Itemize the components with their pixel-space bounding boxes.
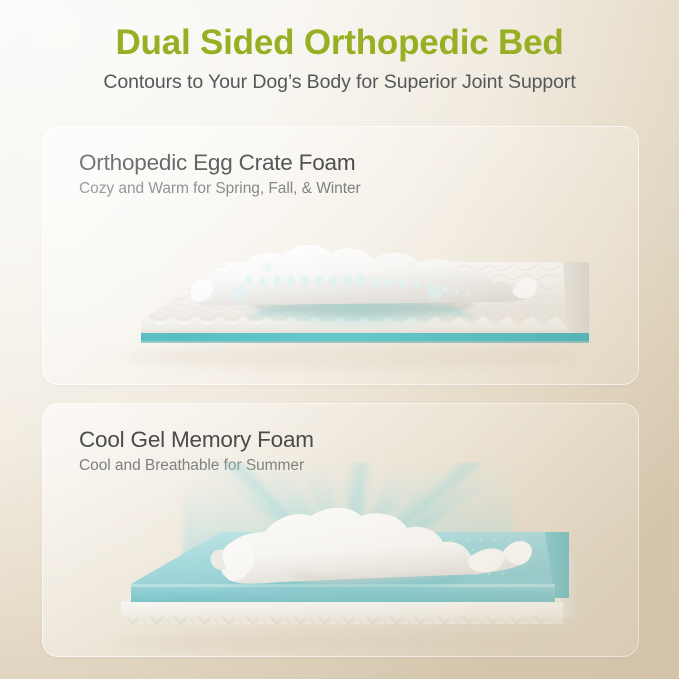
infographic-page: Dual Sided Orthopedic Bed Contours to Yo… (0, 0, 679, 679)
card-heading: Orthopedic Egg Crate Foam (79, 149, 355, 176)
page-title: Dual Sided Orthopedic Bed (0, 22, 679, 63)
page-subtitle: Contours to Your Dog’s Body for Superior… (0, 71, 679, 94)
cool-gel-foam-with-dog-illustration (43, 462, 638, 656)
card-heading: Cool Gel Memory Foam (79, 426, 314, 453)
egg-crate-foam-with-dog-illustration (43, 205, 638, 377)
feature-card-cool-gel-memory-foam: Cool Gel Memory Foam Cool and Breathable… (42, 403, 639, 657)
feature-card-orthopedic-egg-crate-foam: Orthopedic Egg Crate Foam Cozy and Warm … (42, 126, 639, 385)
card-subheading: Cozy and Warm for Spring, Fall, & Winter (79, 179, 361, 198)
header: Dual Sided Orthopedic Bed Contours to Yo… (0, 22, 679, 95)
